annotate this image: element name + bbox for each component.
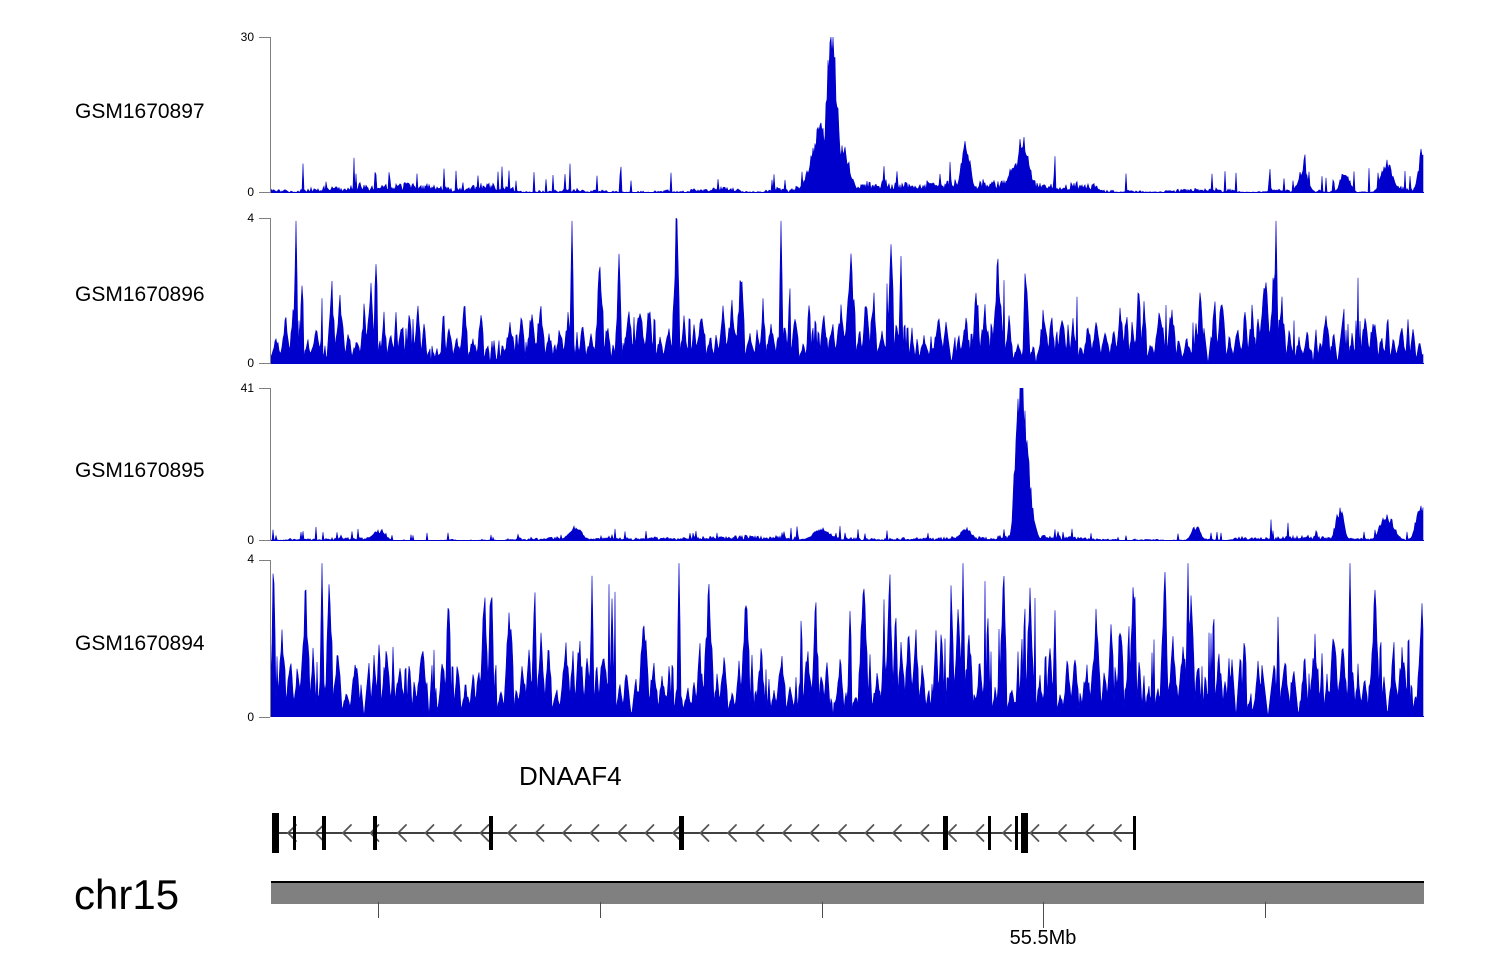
gene-model-svg: [0, 755, 1500, 865]
chromosome-bar[interactable]: [271, 881, 1424, 904]
y-axis-max-tick: [259, 218, 270, 219]
signal-track-gsm1670894[interactable]: GSM1670894 4 0: [0, 555, 1500, 730]
ruler-tick-label: 55.5Mb: [963, 927, 1123, 950]
signal-track-gsm1670895[interactable]: GSM1670895 41 0: [0, 375, 1500, 555]
y-axis-max-tick: [259, 388, 270, 389]
gene-annotation-track[interactable]: DNAAF4: [0, 755, 1500, 865]
ruler-tick: [378, 902, 379, 918]
axis-min-label: 0: [214, 534, 254, 546]
axis-max-label: 41: [214, 382, 254, 394]
signal-plot: [271, 218, 1424, 364]
ruler-tick: [822, 902, 823, 918]
axis-max-label: 4: [214, 553, 254, 565]
genome-browser-view: GSM1670897 30 0 GSM1670896 4 0 GSM167089…: [0, 0, 1500, 980]
axis-min-label: 0: [214, 357, 254, 369]
signal-plot: [271, 560, 1424, 717]
signal-track-gsm1670896[interactable]: GSM1670896 4 0: [0, 205, 1500, 375]
axis-min-label: 0: [214, 186, 254, 198]
chromosome-label: chr15: [74, 871, 179, 919]
ruler-tick-labeled: [1043, 902, 1044, 928]
y-axis-max-tick: [259, 560, 270, 561]
axis-max-label: 4: [214, 212, 254, 224]
track-label: GSM1670897: [75, 100, 205, 124]
signal-plot: [271, 388, 1424, 541]
signal-plot: [271, 37, 1424, 193]
ruler-tick: [600, 902, 601, 918]
chromosome-ruler[interactable]: chr15 55.5Mb: [0, 865, 1500, 980]
y-axis-min-tick: [259, 192, 270, 193]
track-label: GSM1670895: [75, 459, 205, 483]
signal-track-gsm1670897[interactable]: GSM1670897 30 0: [0, 0, 1500, 205]
track-label: GSM1670894: [75, 632, 205, 656]
ruler-tick: [1265, 902, 1266, 918]
y-axis-min-tick: [259, 363, 270, 364]
y-axis-min-tick: [259, 540, 270, 541]
y-axis-max-tick: [259, 37, 270, 38]
axis-min-label: 0: [214, 711, 254, 723]
track-label: GSM1670896: [75, 283, 205, 307]
axis-max-label: 30: [214, 31, 254, 43]
y-axis-min-tick: [259, 717, 270, 718]
